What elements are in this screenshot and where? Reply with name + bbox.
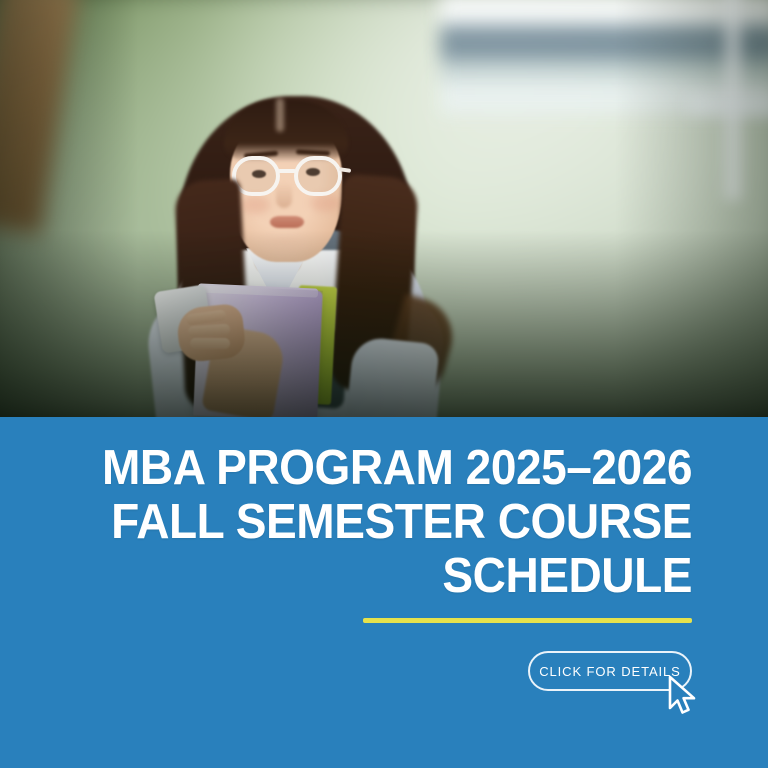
cta-label: CLICK FOR DETAILS — [539, 664, 680, 679]
blue-content-panel: MBA PROGRAM 2025–2026 FALL SEMESTER COUR… — [0, 417, 768, 768]
hero-photo — [0, 0, 768, 418]
click-for-details-button[interactable]: CLICK FOR DETAILS — [528, 651, 692, 691]
page-title: MBA PROGRAM 2025–2026 FALL SEMESTER COUR… — [98, 441, 692, 603]
photo-vignette — [0, 0, 768, 418]
headline-line-2: FALL SEMESTER COURSE — [98, 495, 692, 549]
promo-banner: MBA PROGRAM 2025–2026 FALL SEMESTER COUR… — [0, 0, 768, 768]
headline-line-3: SCHEDULE — [98, 549, 692, 603]
yellow-divider — [363, 618, 692, 623]
headline-line-1: MBA PROGRAM 2025–2026 — [98, 441, 692, 495]
